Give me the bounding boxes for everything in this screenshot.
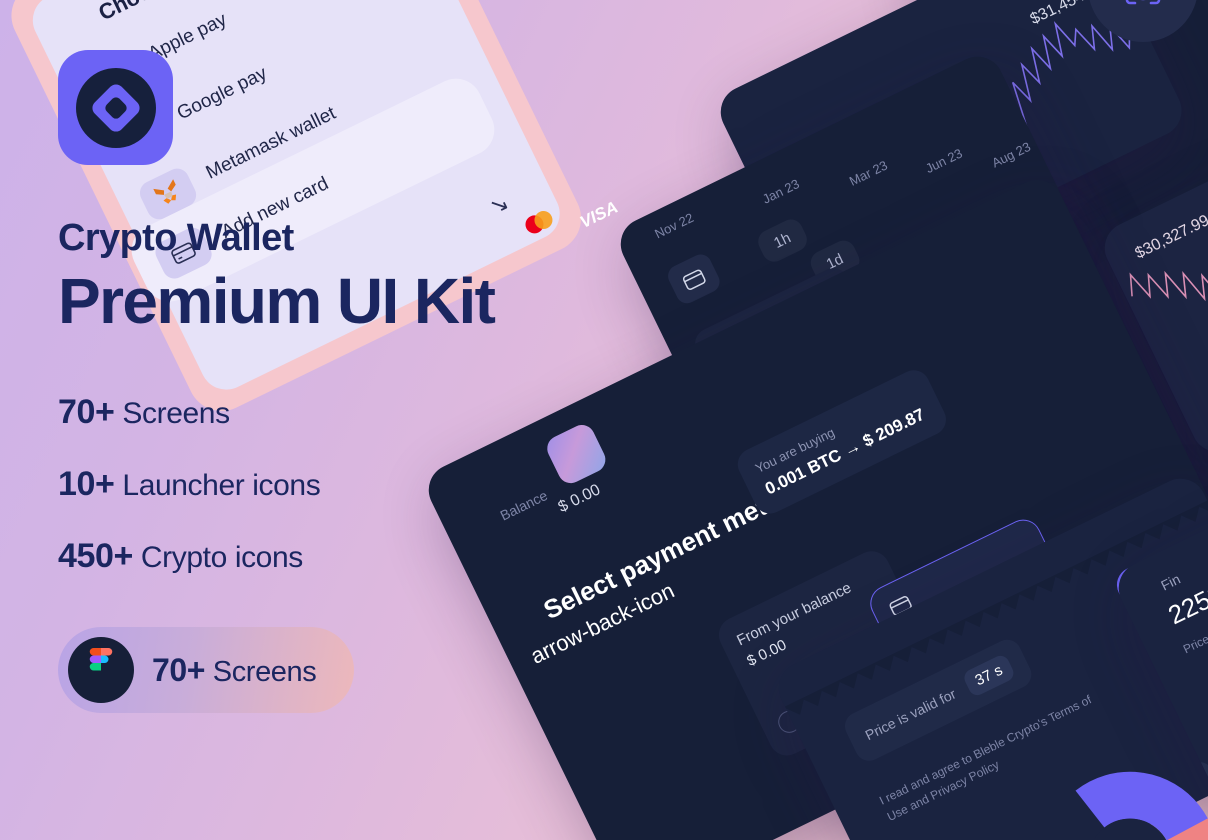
feature-item: 10+ Launcher icons xyxy=(58,465,528,504)
figma-glyph xyxy=(86,648,116,692)
poster-left-panel: Crypto Wallet Premium UI Kit 70+ Screens… xyxy=(58,50,528,713)
feature-item: 450+ Crypto icons xyxy=(58,537,528,576)
price-valid-label: Price is v xyxy=(1181,622,1208,656)
axis-label: Jan 23 xyxy=(760,176,802,207)
poster-stage: ↖ ₿ Bitcoin BTC $20,987.11 ▲ +23.47% Bal… xyxy=(0,0,1208,840)
arrow-right-icon: → xyxy=(840,436,864,461)
figma-badge-count: 70+ xyxy=(152,652,205,688)
fin-label: Fin xyxy=(1158,571,1182,594)
feature-count: 70+ xyxy=(58,393,114,431)
feature-count: 450+ xyxy=(58,537,133,575)
figma-screens-badge: 70+ Screens xyxy=(58,627,354,713)
feature-label: Launcher icons xyxy=(122,469,320,502)
page-kicker: Crypto Wallet xyxy=(58,217,528,260)
axis-label: Aug 23 xyxy=(989,139,1033,171)
timeframe-1h[interactable]: 1h xyxy=(754,216,810,266)
price-valid-seconds: 37 s xyxy=(961,653,1016,698)
crypto-wallet-diamond-logo xyxy=(76,68,156,148)
axis-label: Mar 23 xyxy=(847,158,890,189)
figma-badge-label: Screens xyxy=(213,656,317,688)
figma-icon xyxy=(68,637,134,703)
feature-count: 10+ xyxy=(58,465,114,503)
app-logo xyxy=(58,50,173,165)
buying-summary: You are buying 0.001 BTC → $ 209.87 xyxy=(732,365,951,519)
wallet-icon[interactable] xyxy=(664,251,723,307)
page-title: Premium UI Kit xyxy=(58,268,528,335)
feature-label: Screens xyxy=(122,397,229,430)
visa-logo: VISA xyxy=(577,197,621,232)
axis-label: Nov 22 xyxy=(652,210,696,242)
feature-label: Crypto icons xyxy=(141,541,303,574)
feature-item: 70+ Screens xyxy=(58,393,528,432)
feature-list: 70+ Screens 10+ Launcher icons 450+ Cryp… xyxy=(58,393,528,576)
axis-label: Jun 23 xyxy=(923,145,965,176)
balance-value: $ 0.00 xyxy=(556,481,604,517)
price-valid-label: Price is valid for xyxy=(862,685,958,743)
donut-chart xyxy=(1040,770,1208,840)
avatar[interactable] xyxy=(543,421,610,488)
